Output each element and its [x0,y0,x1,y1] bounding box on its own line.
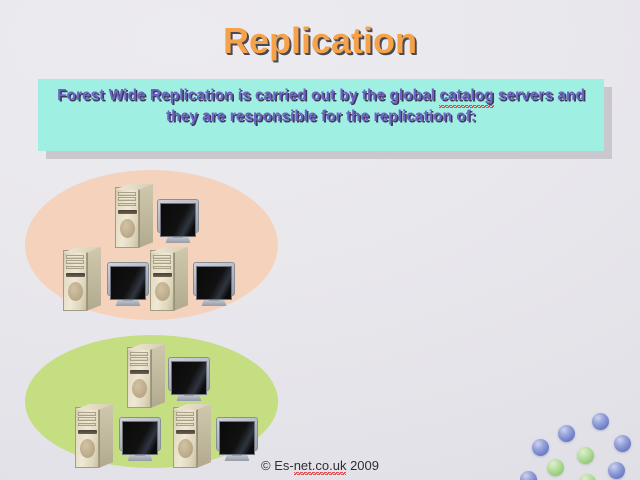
decorative-sphere-blue [608,462,625,479]
spellcheck-word-catalog: catalog [439,85,493,106]
subtitle-box: Forest Wide Replication is carried out b… [38,79,604,151]
computer-monitor-icon [107,262,149,307]
computer-monitor-icon [157,199,199,244]
footer-text-after: 2009 [346,458,379,473]
decorative-sphere-blue [614,435,631,452]
computer-tower-icon [115,184,153,248]
decorative-sphere-blue [532,439,549,456]
page-title: Replication [0,20,640,62]
subtitle-text: Forest Wide Replication is carried out b… [48,85,594,127]
decorative-sphere-blue [520,471,537,480]
slide-canvas: Replication Forest Wide Replication is c… [0,0,640,480]
spellcheck-word-domain: net.co.uk [294,458,347,473]
computer-tower-icon [150,247,188,311]
decorative-sphere-green [579,474,596,480]
decorative-sphere-blue [558,425,575,442]
subtitle-line-1: Forest Wide Replication is carried out b… [57,87,435,104]
computer-monitor-icon [216,417,258,462]
computer-monitor-icon [168,357,210,402]
decorative-sphere-green [547,459,564,476]
decorative-spheres [520,405,640,480]
copyright-icon: © [261,458,271,473]
computer-monitor-icon [119,417,161,462]
computer-monitor-icon [193,262,235,307]
footer-text-before: Es- [271,458,294,473]
computer-tower-icon [127,344,165,408]
subtitle-line-3: replication of: [374,108,476,125]
computer-tower-icon [63,247,101,311]
decorative-sphere-blue [592,413,609,430]
decorative-sphere-green [577,447,594,464]
